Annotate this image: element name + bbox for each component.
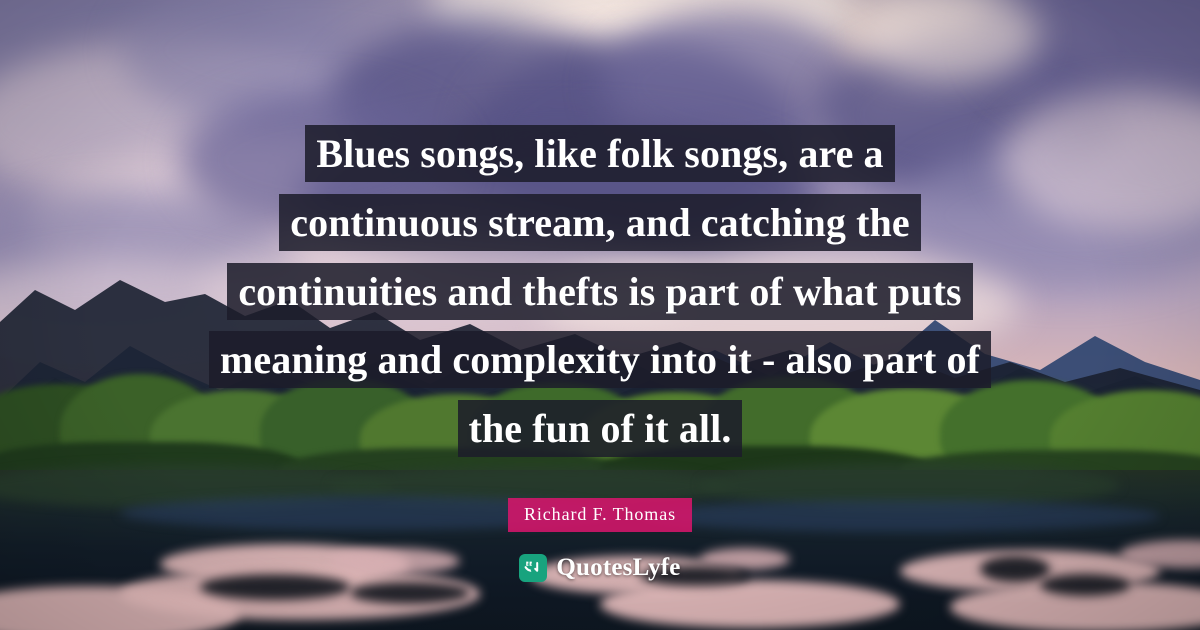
quote-card: Blues songs, like folk songs, are a cont… [0,0,1200,630]
quote-line-2: continuous stream, and catching the [290,194,909,251]
quote-line-5: the fun of it all. [469,400,732,457]
quote-block: Blues songs, like folk songs, are a cont… [80,0,1120,532]
card-content: Blues songs, like folk songs, are a cont… [0,0,1200,630]
quote-line-1: Blues songs, like folk songs, are a [316,125,883,182]
quote-text: Blues songs, like folk songs, are a cont… [80,120,1120,464]
author-badge: Richard F. Thomas [508,498,692,532]
quote-line-4: meaning and complexity into it - also pa… [220,331,980,388]
brand-name: QuotesLyfe [556,554,680,582]
quote-smiley-icon [519,554,547,582]
quote-line-3: continuities and thefts is part of what … [238,263,961,320]
author-wrap: Richard F. Thomas [80,498,1120,532]
brand-watermark[interactable]: QuotesLyfe [0,554,1200,582]
